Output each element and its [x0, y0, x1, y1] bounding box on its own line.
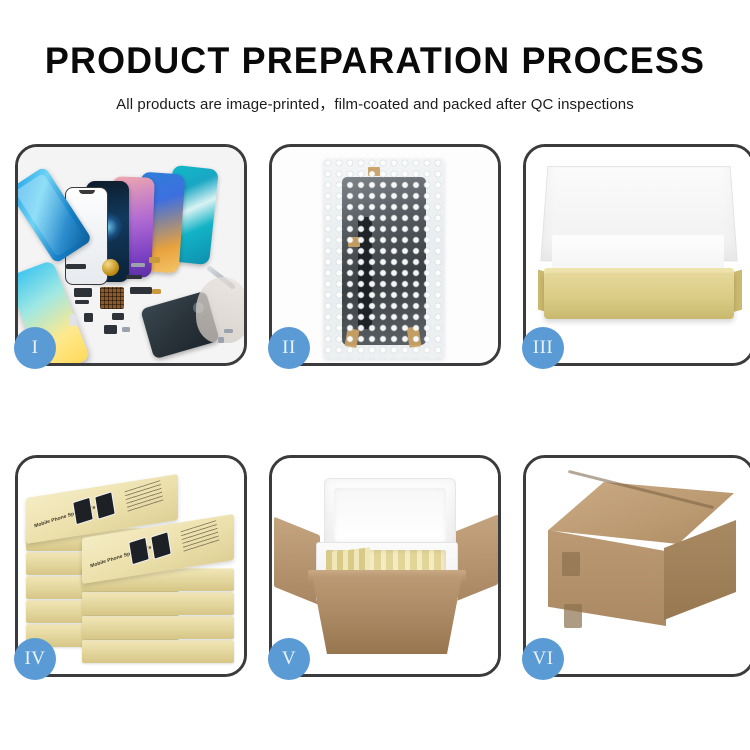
- carton-tape-upper: [562, 552, 580, 576]
- retail-box-r3: [82, 592, 234, 615]
- box-label-text-block-b: [181, 520, 220, 552]
- page-header: PRODUCT PREPARATION PROCESS All products…: [0, 0, 750, 114]
- box-label-phone-b2: [150, 531, 172, 560]
- box-label-text-block-a: [125, 480, 164, 512]
- process-step-grid: I II: [15, 144, 735, 677]
- carton-tape-lower: [564, 604, 582, 628]
- part-strip-a: [66, 264, 86, 269]
- retail-box-r4: [82, 616, 234, 639]
- process-step-panel-5[interactable]: V: [269, 455, 501, 677]
- part-flex-b: [75, 300, 89, 304]
- hand-blur: [196, 277, 244, 343]
- part-screw-plate: [122, 327, 130, 332]
- part-connector-b: [152, 289, 161, 294]
- page-subtitle: All products are image-printed，film-coat…: [0, 93, 750, 114]
- mailer-tray-base: [544, 273, 734, 319]
- part-sim-tray: [70, 314, 77, 326]
- foam-case-lid: [324, 478, 456, 552]
- step-badge-6: VI: [522, 638, 564, 680]
- step-badge-3: III: [522, 327, 564, 369]
- part-screw-small: [218, 337, 224, 343]
- part-camera: [112, 313, 124, 320]
- bubble-texture: [324, 159, 444, 359]
- part-connector-a: [149, 257, 160, 263]
- part-flex-c: [130, 287, 152, 294]
- step-5-image: [272, 458, 498, 674]
- part-screw: [224, 329, 233, 333]
- retail-box-stack: Mobile Phone Spare Parts Mobile Phone Sp…: [26, 472, 238, 668]
- step-4-image: Mobile Phone Spare Parts Mobile Phone Sp…: [18, 458, 244, 674]
- carton-body: [312, 576, 462, 654]
- bubble-wrap-bag: [324, 159, 444, 359]
- step-badge-4: IV: [14, 638, 56, 680]
- part-flex-a: [74, 288, 92, 297]
- speaker-component: [102, 259, 119, 276]
- step-3-image: [526, 147, 750, 363]
- part-button: [104, 325, 117, 334]
- step-6-image: [526, 458, 750, 674]
- part-bracket: [84, 313, 93, 322]
- box-label-phone-b1: [128, 537, 150, 566]
- step-badge-5: V: [268, 638, 310, 680]
- box-label-phone-a1: [72, 497, 94, 526]
- chip-array-component: [100, 287, 124, 309]
- step-2-image: [272, 147, 498, 363]
- process-step-panel-6[interactable]: VI: [523, 455, 750, 677]
- step-badge-1: I: [14, 327, 56, 369]
- process-step-panel-4[interactable]: Mobile Phone Spare Parts Mobile Phone Sp…: [15, 455, 247, 677]
- process-step-panel-1[interactable]: I: [15, 144, 247, 366]
- step-badge-2: II: [268, 327, 310, 369]
- retail-box-r5: [82, 640, 234, 663]
- process-step-panel-3[interactable]: III: [523, 144, 750, 366]
- page-title: PRODUCT PREPARATION PROCESS: [11, 42, 739, 79]
- process-step-panel-2[interactable]: II: [269, 144, 501, 366]
- box-label-phone-a2: [94, 491, 116, 520]
- step-1-image: [18, 147, 244, 363]
- part-strip-c: [126, 275, 142, 279]
- part-strip-b: [131, 263, 145, 267]
